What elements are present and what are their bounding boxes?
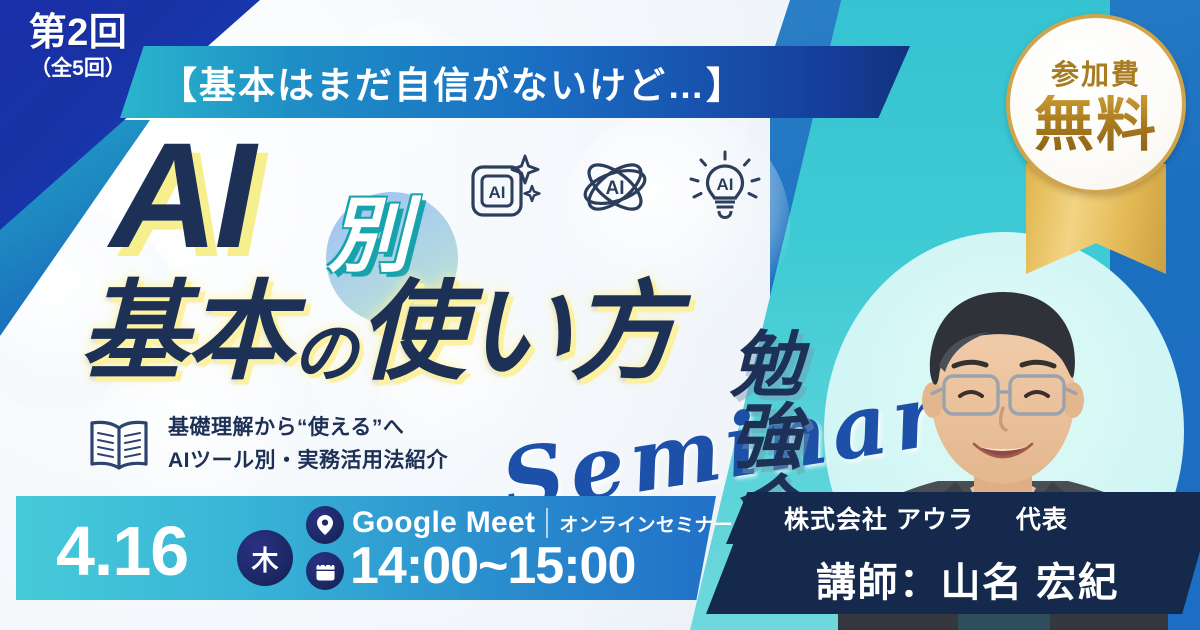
title-word-betsu: 別	[328, 196, 410, 278]
svg-text:AI: AI	[717, 175, 734, 194]
event-weekday-badge: 木	[237, 530, 293, 586]
episode-badge: 第2回 （全5回）	[8, 14, 148, 79]
calendar-icon	[306, 552, 344, 590]
platform-name: Google Meet	[352, 506, 535, 540]
description-line-1: 基礎理解から“使える”へ	[168, 416, 404, 439]
episode-number: 第2回	[8, 14, 148, 52]
subtitle-text: 【基本はまだ自信がないけど…】	[160, 55, 745, 109]
ai-icon-row: AI AI AI	[468, 150, 762, 224]
location-pin-icon	[306, 506, 344, 544]
ai-lightbulb-icon: AI	[688, 150, 762, 224]
speaker-company-text: 株式会社 アウラ 代表	[784, 500, 1068, 536]
speaker-name-text: 講師：山名 宏紀	[816, 550, 1119, 608]
description-row: 基礎理解から“使える”へ AIツール別・実務活用法紹介	[88, 412, 448, 477]
event-date: 4.16	[56, 516, 188, 586]
badge-top-label: 参加費	[1051, 53, 1141, 93]
ai-atom-icon: AI	[578, 150, 652, 224]
badge-main-label: 無料	[1034, 95, 1158, 155]
platform-row: Google Meet オンラインセミナー	[352, 506, 733, 540]
seminar-banner: 第2回 （全5回） 【基本はまだ自信がないけど…】 AI 別 基本の使い方 勉強…	[0, 0, 1200, 630]
divider	[546, 508, 548, 538]
description-line-2: AIツール別・実務活用法紹介	[168, 449, 448, 472]
speaker-name-bar: 講師：山名 宏紀	[706, 544, 1200, 614]
title-word-no: の	[292, 316, 358, 390]
title-line-2: 基本の使い方	[80, 278, 676, 386]
ai-chip-sparkle-icon: AI	[468, 150, 542, 224]
title-word-kihon: 基本	[80, 271, 292, 392]
event-time: 14:00~15:00	[350, 540, 635, 592]
title-word-tsukaikata: 使い方	[358, 271, 676, 392]
free-admission-badge: 参加費 無料	[1000, 14, 1192, 276]
speaker-company-bar: 株式会社 アウラ 代表	[726, 492, 1200, 544]
open-book-icon	[88, 417, 150, 473]
svg-text:AI: AI	[489, 183, 506, 202]
svg-text:AI: AI	[606, 178, 625, 199]
title-word-ai: AI	[110, 120, 252, 270]
episode-series-count: （全5回）	[8, 58, 148, 79]
badge-circle: 参加費 無料	[1006, 14, 1186, 194]
description-text: 基礎理解から“使える”へ AIツール別・実務活用法紹介	[168, 412, 448, 477]
platform-note: オンラインセミナー	[559, 510, 733, 537]
